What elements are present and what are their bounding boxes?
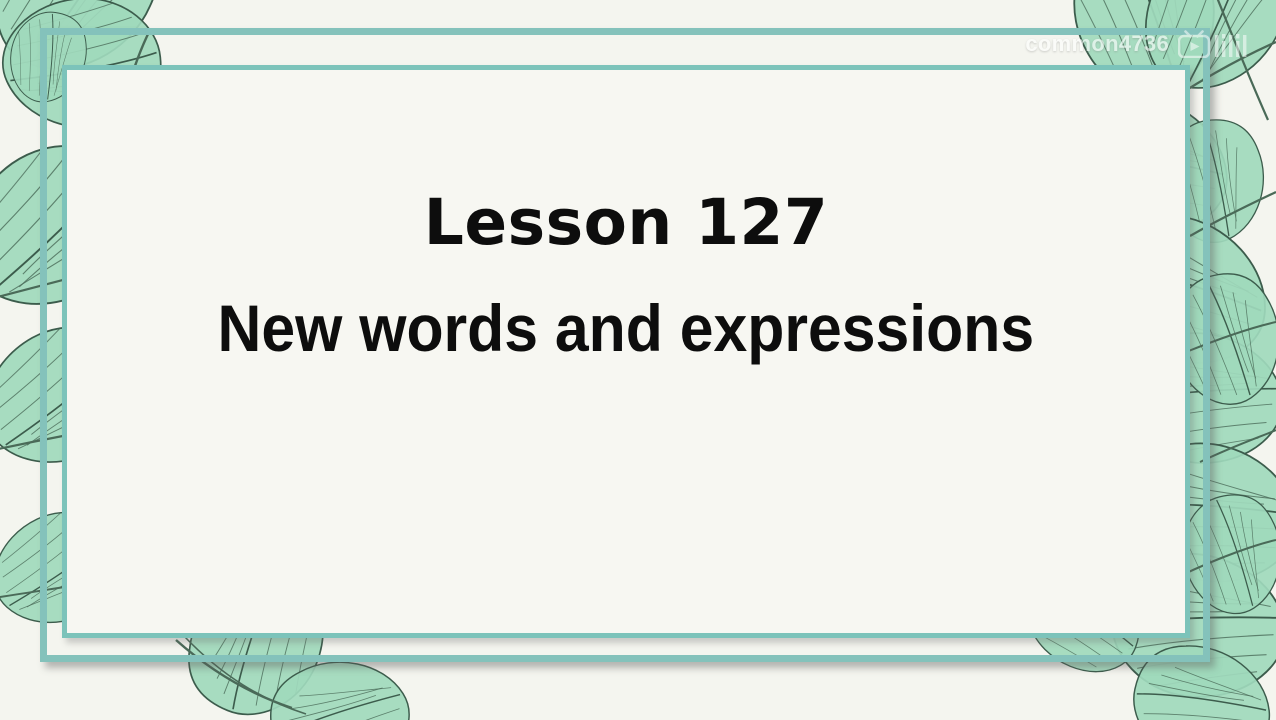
slide-text-block: Lesson 127 New words and expressions <box>62 65 1190 638</box>
presentation-slide: Lesson 127 New words and expressions com… <box>0 0 1276 720</box>
lesson-subtitle: New words and expressions <box>218 294 1035 363</box>
lesson-title: Lesson 127 <box>424 190 828 256</box>
